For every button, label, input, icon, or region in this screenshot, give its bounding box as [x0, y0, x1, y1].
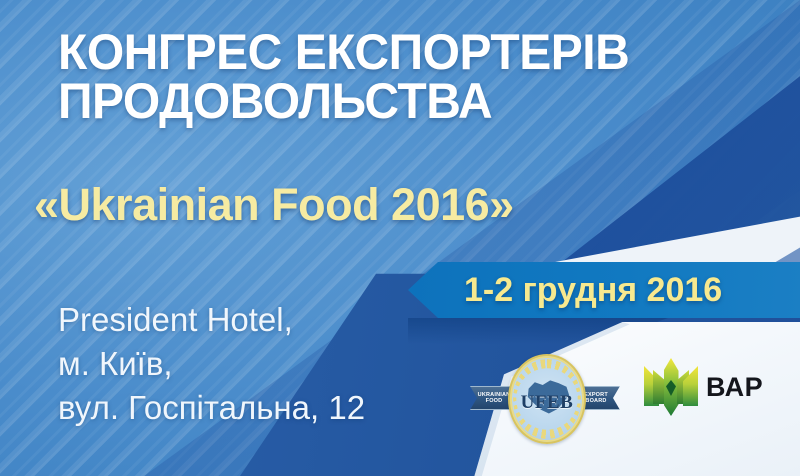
ufeb-logo: UKRAINIAN FOOD EXPORT BOARD UFEB — [470, 352, 620, 444]
bap-logo: ВАР — [644, 358, 763, 416]
date-ribbon-text: 1-2 грудня 2016 — [464, 271, 722, 310]
bap-label: ВАР — [706, 374, 763, 401]
venue-line-1: President Hotel, — [58, 298, 365, 342]
event-headline: КОНГРЕС ЕКСПОРТЕРІВ ПРОДОВОЛЬСТВА — [58, 28, 730, 126]
event-subtitle: «Ukrainian Food 2016» — [34, 182, 774, 227]
trident-prong-inner-left — [653, 370, 665, 404]
trident-icon — [644, 358, 698, 416]
ufeb-acronym: UFEB — [510, 392, 584, 414]
ufeb-ribbon-right-line-2: BOARD — [585, 398, 606, 404]
venue-line-3: вул. Госпітальна, 12 — [58, 386, 365, 430]
headline-line-2: ПРОДОВОЛЬСТВА — [58, 77, 730, 126]
event-banner: КОНГРЕС ЕКСПОРТЕРІВ ПРОДОВОЛЬСТВА «Ukrai… — [0, 0, 800, 476]
sponsor-logos: UKRAINIAN FOOD EXPORT BOARD UFEB — [470, 352, 800, 452]
venue-address: President Hotel, м. Київ, вул. Госпіталь… — [58, 298, 365, 430]
trident-prong-right — [683, 366, 698, 406]
ufeb-ribbon-left-line-2: FOOD — [486, 398, 503, 404]
date-ribbon: 1-2 грудня 2016 — [408, 262, 800, 318]
headline-line-1: КОНГРЕС ЕКСПОРТЕРІВ — [58, 24, 629, 80]
venue-line-2: м. Київ, — [58, 342, 365, 386]
ufeb-seal-icon: UFEB — [508, 354, 586, 444]
